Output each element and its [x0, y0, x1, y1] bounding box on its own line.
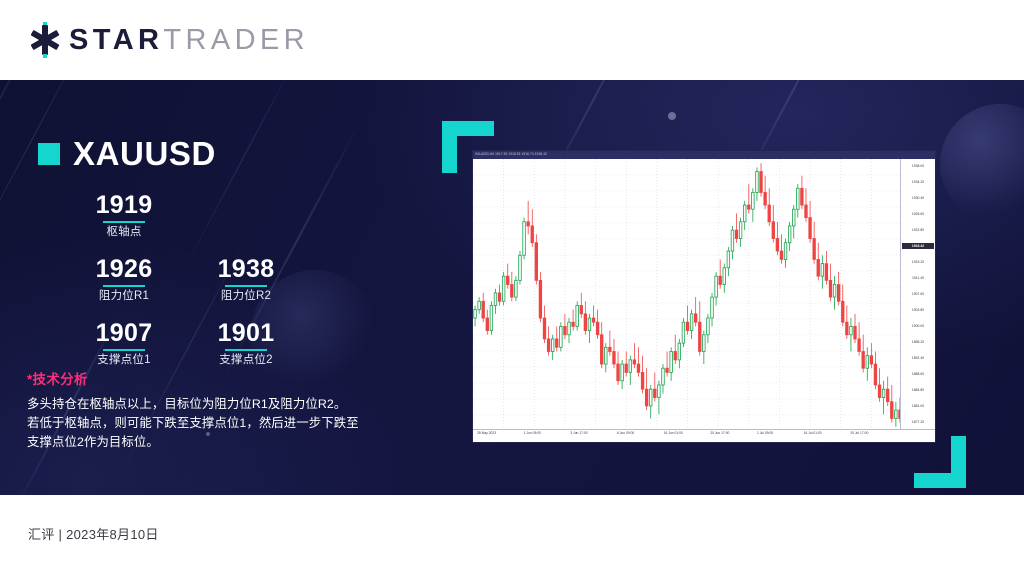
price-axis-tick: 1903.80 — [902, 307, 934, 313]
price-axis-tick: 1900.00 — [902, 323, 934, 329]
price-axis-tick: 1896.20 — [902, 339, 934, 345]
time-axis-tick: 28 May 2023 — [477, 432, 496, 435]
price-axis-tick: 1881.00 — [902, 403, 934, 409]
price-axis-tick: 1877.20 — [902, 419, 934, 425]
price-axis-tick: 1892.40 — [902, 355, 934, 361]
level-pivot-label: 枢轴点 — [72, 226, 176, 240]
level-underline — [103, 349, 145, 351]
brand-wordmark: STARTRADER — [69, 26, 309, 55]
chart-window-title: XAUUSD,H4 1917.93 1918.52 1916.74 1918.4… — [475, 153, 547, 156]
price-axis-tick: 1938.00 — [902, 163, 934, 169]
chart-window[interactable]: XAUUSD,H4 1917.93 1918.52 1916.74 1918.4… — [472, 150, 936, 443]
time-axis-tick: 1 Jul 09:00 — [757, 432, 773, 435]
asterisk-star-icon — [28, 22, 62, 58]
level-s1: 1907 支撑点位1 — [72, 320, 176, 368]
grid-vertical — [504, 159, 872, 431]
level-underline — [103, 285, 145, 287]
asterisk-shape-icon — [28, 24, 62, 56]
analysis-line-2: 若低于枢轴点，则可能下跌至支撑点位1，然后进一步下跌至 — [27, 414, 399, 433]
level-underline — [225, 285, 267, 287]
time-axis-tick: 6 Jun 09:00 — [617, 432, 634, 435]
price-axis-tick: 1888.60 — [902, 371, 934, 377]
time-axis-tick: 16 Jun 01:00 — [664, 432, 683, 435]
corner-bracket-bottom-right — [914, 436, 966, 488]
price-axis-tick: 1911.40 — [902, 275, 934, 281]
time-axis-tick: 20 Jun 17:00 — [710, 432, 729, 435]
price-axis-tick: 1922.80 — [902, 227, 934, 233]
time-axis-tick: 1 Jun 09:00 — [524, 432, 541, 435]
level-r1: 1926 阻力位R1 — [72, 256, 176, 304]
price-axis: 1938.001934.201930.401926.601922.801918.… — [900, 159, 935, 431]
analysis-body: 多头持仓在枢轴点以上，目标位为阻力位R1及阻力位R2。 若低于枢轴点，则可能下跌… — [27, 395, 399, 452]
time-axis-tick: 16 Jul 01:00 — [804, 432, 822, 435]
price-axis-current-label: 1918.42 — [902, 243, 934, 249]
level-s1-label: 支撑点位1 — [72, 354, 176, 368]
level-underline — [103, 221, 145, 223]
brand-wordmark-bold: STAR — [69, 24, 163, 56]
price-axis-tick: 1934.20 — [902, 179, 934, 185]
level-r1-label: 阻力位R1 — [72, 290, 176, 304]
price-axis-tick: 1907.60 — [902, 291, 934, 297]
level-r2-value: 1938 — [194, 256, 298, 282]
time-axis-tick: 20 Jul 17:00 — [850, 432, 868, 435]
page-footer: 汇评 | 2023年8月10日 — [0, 495, 1024, 576]
level-s2-value: 1901 — [194, 320, 298, 346]
resistance-row: 1926 阻力位R1 1938 阻力位R2 — [52, 256, 372, 304]
technical-analysis-block: *技术分析 多头持仓在枢轴点以上，目标位为阻力位R1及阻力位R2。 若低于枢轴点… — [27, 368, 399, 452]
support-row: 1907 支撑点位1 1901 支撑点位2 — [52, 320, 372, 368]
pivot-row: 1919 枢轴点 — [52, 192, 372, 240]
analysis-line-1: 多头持仓在枢轴点以上，目标位为阻力位R1及阻力位R2。 — [27, 395, 399, 414]
level-r2-label: 阻力位R2 — [194, 290, 298, 304]
analysis-line-3: 支撑点位2作为目标位。 — [27, 433, 399, 452]
pair-title-row: XAUUSD — [38, 137, 216, 170]
chart-titlebar: XAUUSD,H4 1917.93 1918.52 1916.74 1918.4… — [473, 151, 935, 159]
candlestick-svg — [473, 159, 902, 431]
level-s2: 1901 支撑点位2 — [194, 320, 298, 368]
pivot-levels-group: 1919 枢轴点 1926 阻力位R1 1938 阻力位R2 1907 支撑点位… — [52, 192, 372, 367]
candlestick-plot[interactable] — [473, 159, 902, 431]
brand-logo[interactable]: STARTRADER — [28, 22, 309, 58]
level-pivot-value: 1919 — [72, 192, 176, 218]
main-stage: XAUUSD 1919 枢轴点 1926 阻力位R1 1938 阻力位R2 — [0, 80, 1024, 495]
footer-caption: 汇评 | 2023年8月10日 — [28, 524, 159, 543]
time-axis-tick: 3 Jun 17:00 — [570, 432, 587, 435]
analysis-heading: *技术分析 — [27, 368, 399, 388]
price-axis-tick: 1884.80 — [902, 387, 934, 393]
price-axis-tick: 1930.40 — [902, 195, 934, 201]
level-pivot: 1919 枢轴点 — [72, 192, 176, 240]
page-header: STARTRADER — [0, 0, 1024, 80]
chart-block: XAUUSD,H4 1917.93 1918.52 1916.74 1918.4… — [472, 150, 936, 450]
time-axis: 28 May 20231 Jun 09:003 Jun 17:006 Jun 0… — [473, 429, 936, 442]
level-r1-value: 1926 — [72, 256, 176, 282]
brand-wordmark-light: TRADER — [163, 24, 309, 56]
price-axis-tick: 1915.20 — [902, 259, 934, 265]
title-accent-square — [38, 143, 60, 165]
level-s2-label: 支撑点位2 — [194, 354, 298, 368]
page-title: XAUUSD — [73, 137, 216, 170]
level-underline — [225, 349, 267, 351]
level-r2: 1938 阻力位R2 — [194, 256, 298, 304]
price-axis-tick: 1926.60 — [902, 211, 934, 217]
level-s1-value: 1907 — [72, 320, 176, 346]
